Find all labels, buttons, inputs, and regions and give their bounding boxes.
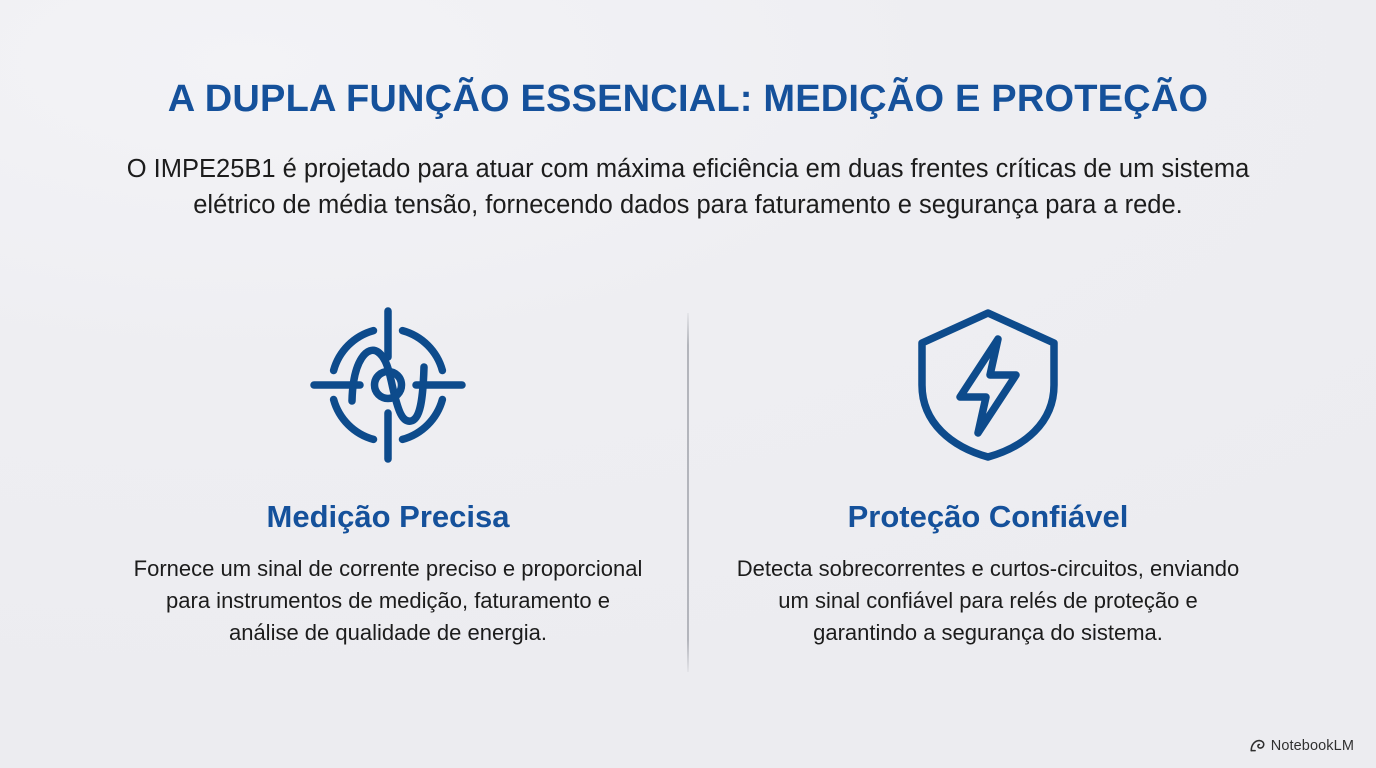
feature-body-medicao: Fornece um sinal de corrente preciso e p…: [133, 553, 643, 648]
feature-body-protecao: Detecta sobrecorrentes e curtos-circuito…: [733, 553, 1243, 648]
slide-header: A DUPLA FUNÇÃO ESSENCIAL: MEDIÇÃO E PROT…: [0, 0, 1376, 223]
notebooklm-watermark-label: NotebookLM: [1271, 738, 1354, 754]
notebooklm-watermark: NotebookLM: [1249, 737, 1354, 754]
feature-heading-medicao: Medição Precisa: [267, 498, 510, 535]
feature-heading-protecao: Proteção Confiável: [848, 498, 1129, 535]
shield-bolt-icon: [908, 300, 1068, 470]
target-waveform-icon: [308, 300, 468, 470]
feature-column-protecao: Proteção Confiável Detecta sobrecorrente…: [688, 300, 1288, 648]
column-divider: [687, 313, 689, 672]
notebooklm-logo-icon: [1249, 737, 1266, 754]
slide-canvas: A DUPLA FUNÇÃO ESSENCIAL: MEDIÇÃO E PROT…: [0, 0, 1376, 768]
page-title: A DUPLA FUNÇÃO ESSENCIAL: MEDIÇÃO E PROT…: [0, 78, 1376, 121]
slide-subtitle: O IMPE25B1 é projetado para atuar com má…: [98, 151, 1278, 223]
feature-column-medicao: Medição Precisa Fornece um sinal de corr…: [88, 300, 688, 648]
